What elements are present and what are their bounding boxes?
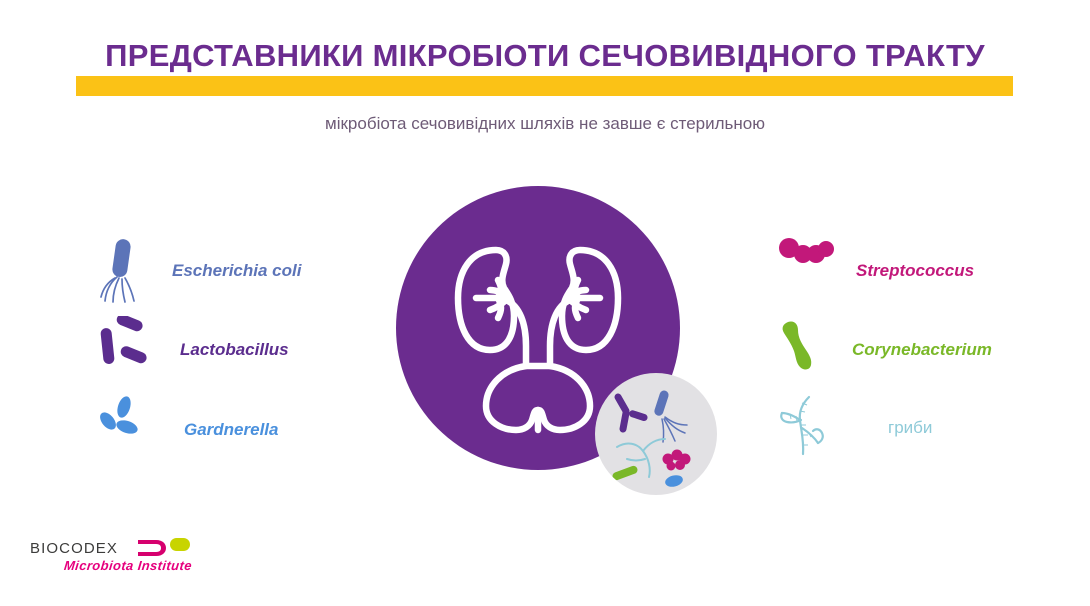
title-highlight-band [76,76,1013,96]
page-subtitle: мікробіота сечовивідних шляхів не завше … [0,112,1090,136]
legend-label-fungi: гриби [888,418,932,438]
page-title: ПРЕДСТАВНИКИ МІКРОБІОТИ СЕЧОВИВІДНОГО ТР… [0,36,1090,76]
legend-item-corynebacterium[interactable]: Corynebacterium [778,315,1078,385]
lactobacillus-rods-icon [100,316,162,384]
legend-label-escherichia-coli: Escherichia coli [172,261,301,281]
legend-item-lactobacillus[interactable]: Lactobacillus [100,315,400,385]
biocodex-logo[interactable]: BIOCODEX Microbiota Institute [30,536,220,584]
logo-mark-icon [136,536,192,560]
lactobacillus-mini-icon [618,397,626,429]
streptococcus-mini-icon [663,450,691,471]
streptococcus-chain-icon [778,237,840,305]
mixed-microbiota-icons [595,373,717,495]
title-block: ПРЕДСТАВНИКИ МІКРОБІОТИ СЕЧОВИВІДНОГО ТР… [0,36,1090,92]
legend-label-lactobacillus: Lactobacillus [180,340,289,360]
legend-item-escherichia-coli[interactable]: Escherichia coli [100,236,400,306]
legend-label-corynebacterium: Corynebacterium [852,340,992,360]
legend-item-streptococcus[interactable]: Streptococcus [778,236,1078,306]
legend-label-streptococcus: Streptococcus [856,261,974,281]
fungal-hyphae-icon [778,394,840,462]
microbiota-inset-circle [595,373,717,495]
corynebacterium-mini-icon [611,465,638,481]
corynebacterium-club-rod-icon [778,316,840,384]
logo-wordmark: BIOCODEX [30,540,118,557]
center-illustration [396,186,726,486]
slide-canvas: ПРЕДСТАВНИКИ МІКРОБІОТИ СЕЧОВИВІДНОГО ТР… [0,0,1090,606]
rod-with-flagella-icon [100,237,162,305]
lactobacillus-mini-rod2 [628,409,648,422]
legend-item-gardnerella[interactable]: Gardnerella [100,395,400,465]
legend-item-fungi[interactable]: гриби [778,393,1078,463]
logo-tagline: Microbiota Institute [63,558,193,574]
legend-label-gardnerella: Gardnerella [184,420,279,440]
gardnerella-mini-icon [664,473,684,488]
ecoli-mini-icon [653,389,687,442]
gardnerella-ovals-icon [100,396,162,464]
